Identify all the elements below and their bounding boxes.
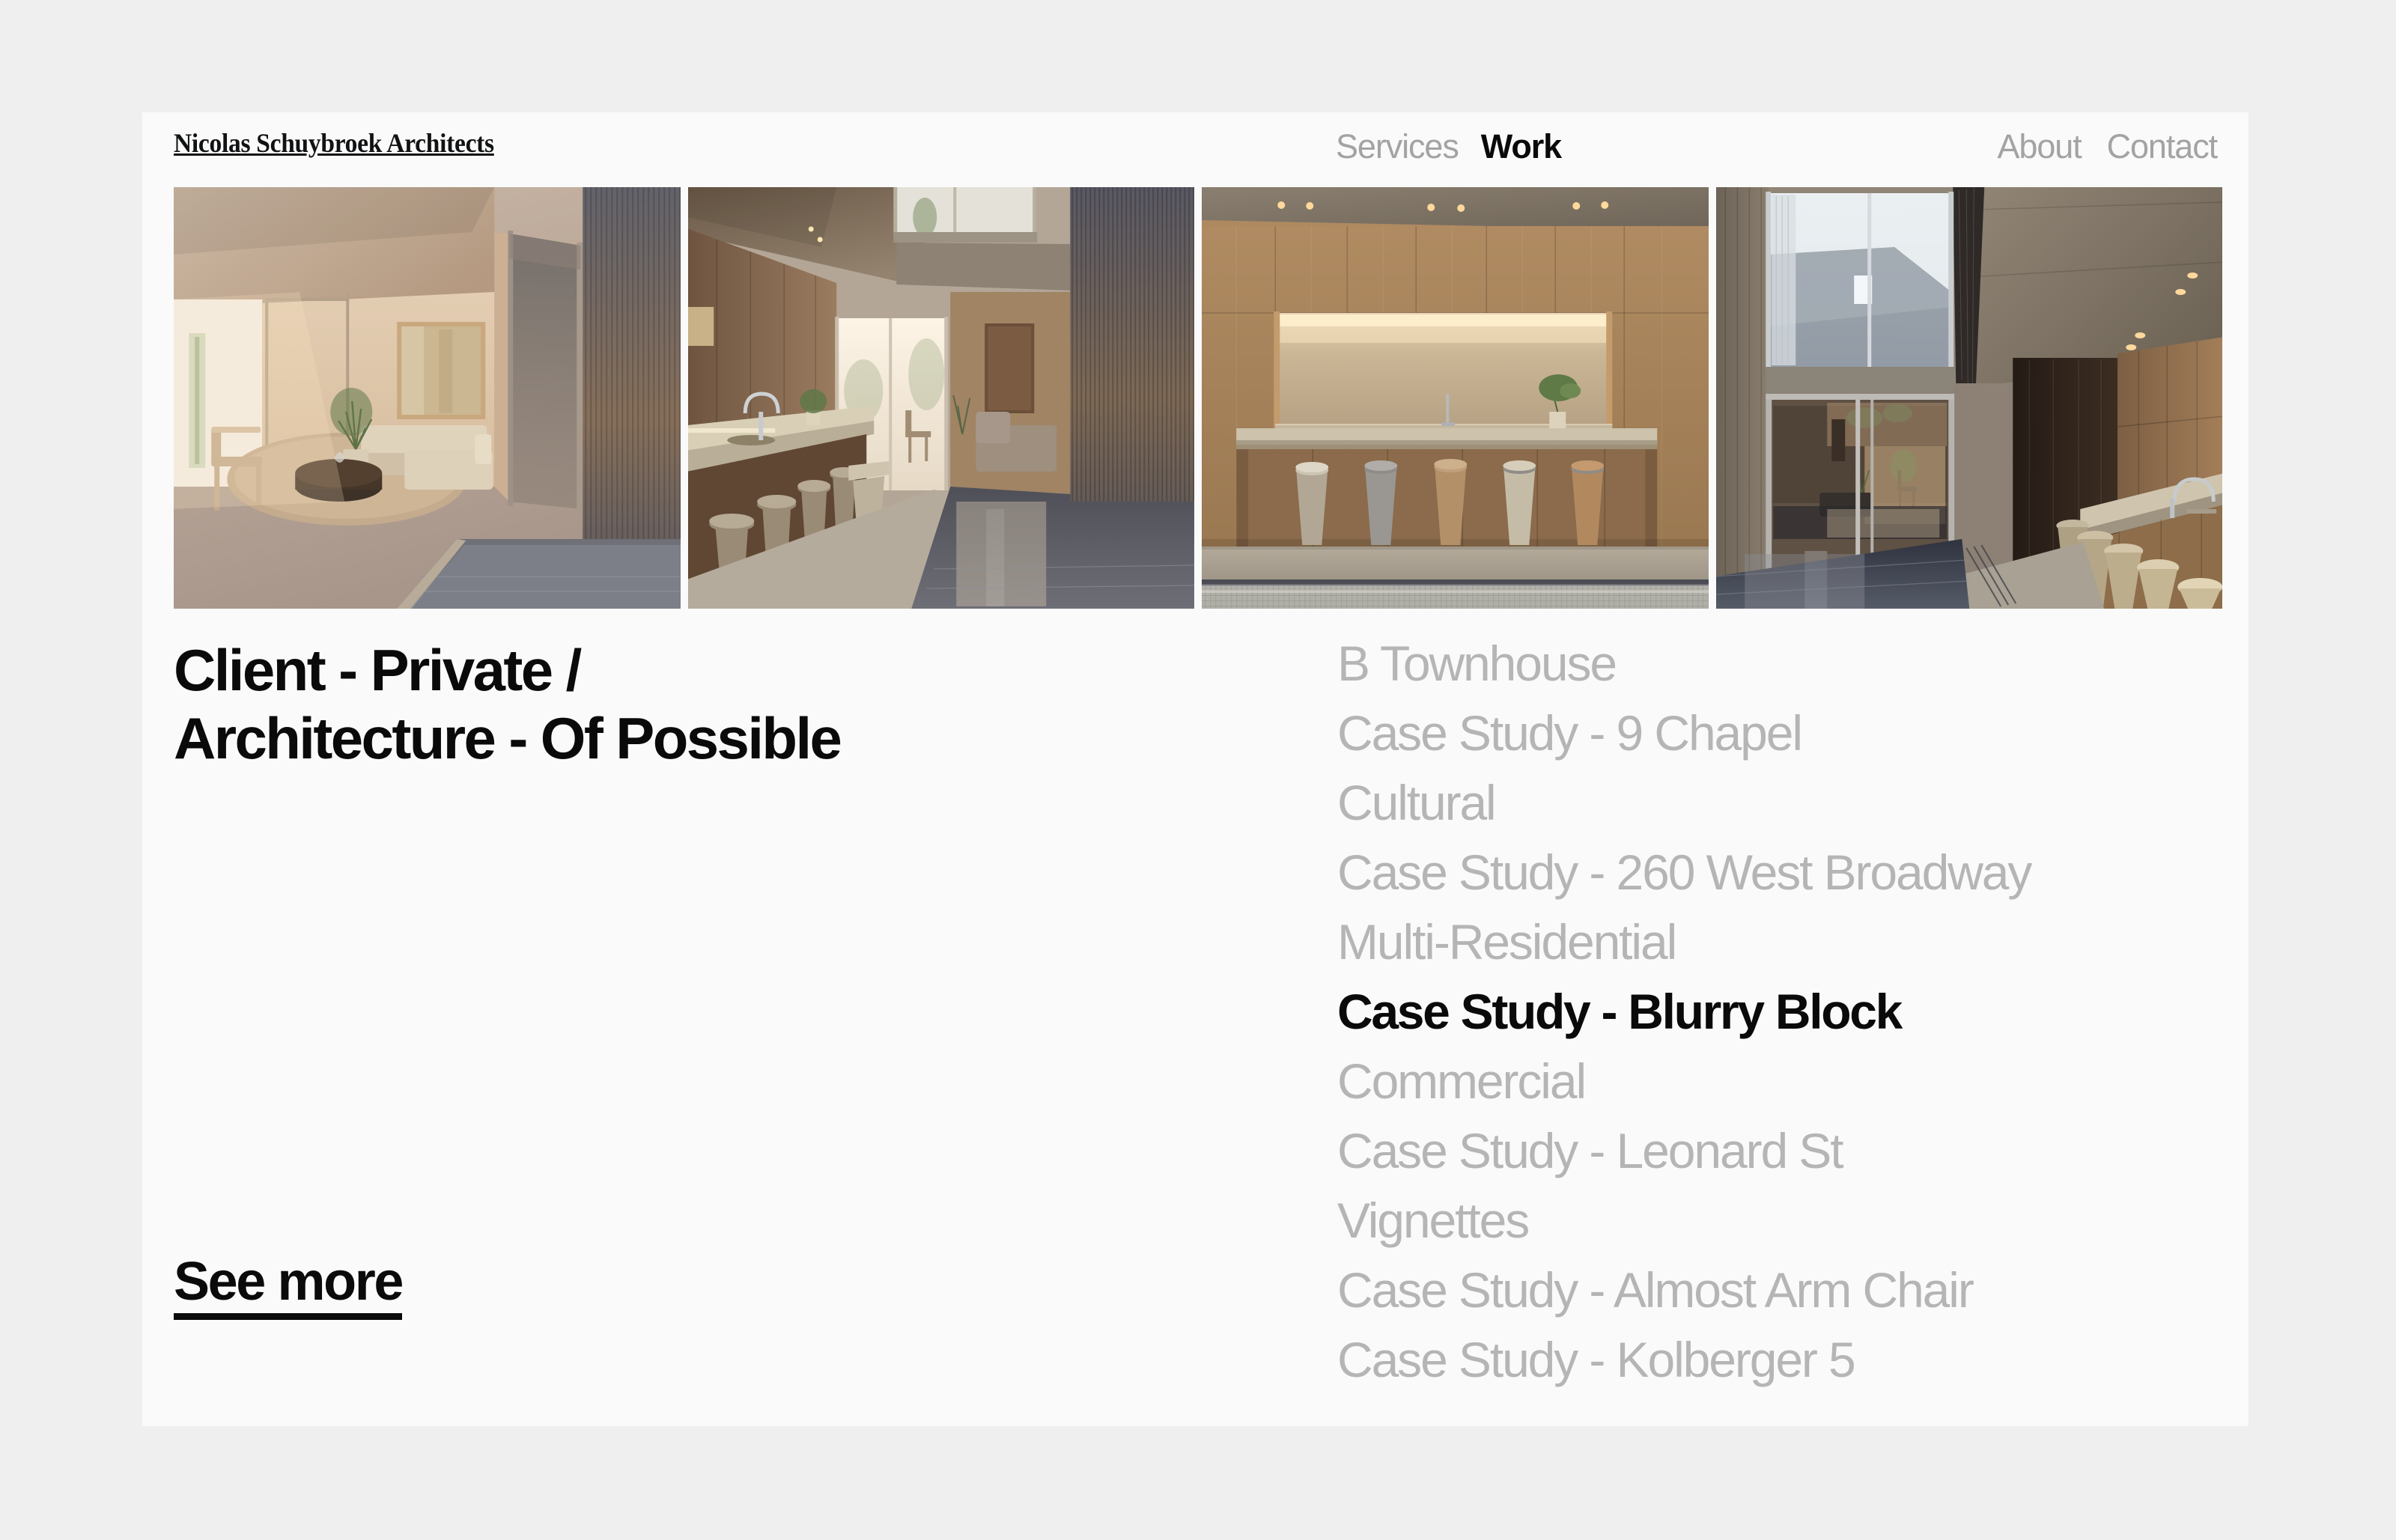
headline-line-1: Client - Private /	[174, 637, 580, 703]
project-item-cultural[interactable]: Cultural	[1337, 768, 2236, 838]
project-item-b-townhouse[interactable]: B Townhouse	[1337, 629, 2236, 699]
headline-line-2: Architecture - Of Possible	[174, 704, 1020, 773]
nav-item-about[interactable]: About	[1998, 130, 2082, 163]
project-item-commercial[interactable]: Commercial	[1337, 1047, 2236, 1116]
project-item-case-study-9-chapel[interactable]: Case Study - 9 Chapel	[1337, 699, 2236, 768]
nav-item-work[interactable]: Work	[1481, 130, 1561, 163]
gallery-image-kitchen-island-render[interactable]	[1202, 187, 1709, 609]
project-meta: Client - Private / Architecture - Of Pos…	[174, 636, 1020, 773]
see-more-link[interactable]: See more	[174, 1254, 402, 1320]
project-image-strip	[174, 187, 2222, 609]
nav-item-services[interactable]: Services	[1336, 130, 1459, 163]
gallery-image-courtyard-pool-render[interactable]	[1716, 187, 2223, 609]
project-item-case-study-leonard-st[interactable]: Case Study - Leonard St	[1337, 1116, 2236, 1186]
secondary-nav: About Contact	[1998, 130, 2218, 163]
project-item-multi-residential[interactable]: Multi-Residential	[1337, 907, 2236, 977]
project-item-vignettes[interactable]: Vignettes	[1337, 1186, 2236, 1256]
gallery-image-kitchen-corridor-render[interactable]	[688, 187, 1195, 609]
project-item-case-study-almost-arm-chair[interactable]: Case Study - Almost Arm Chair	[1337, 1256, 2236, 1325]
site-header: Nicolas Schuybroek Architects Services W…	[142, 112, 2248, 187]
project-item-case-study-260-west-broadway[interactable]: Case Study - 260 West Broadway	[1337, 838, 2236, 907]
project-item-case-study-blurry-block[interactable]: Case Study - Blurry Block	[1337, 977, 2236, 1047]
primary-nav: Services Work	[1336, 130, 1561, 163]
site-card: Nicolas Schuybroek Architects Services W…	[142, 112, 2248, 1426]
see-more-container: See more	[174, 1254, 402, 1320]
site-logo[interactable]: Nicolas Schuybroek Architects	[174, 127, 494, 159]
project-item-case-study-kolberger-5[interactable]: Case Study - Kolberger 5	[1337, 1325, 2236, 1395]
nav-item-contact[interactable]: Contact	[2107, 130, 2217, 163]
gallery-image-living-room-render[interactable]	[174, 187, 681, 609]
page-title: Client - Private / Architecture - Of Pos…	[174, 636, 1020, 773]
project-list: B Townhouse Case Study - 9 Chapel Cultur…	[1337, 629, 2236, 1396]
